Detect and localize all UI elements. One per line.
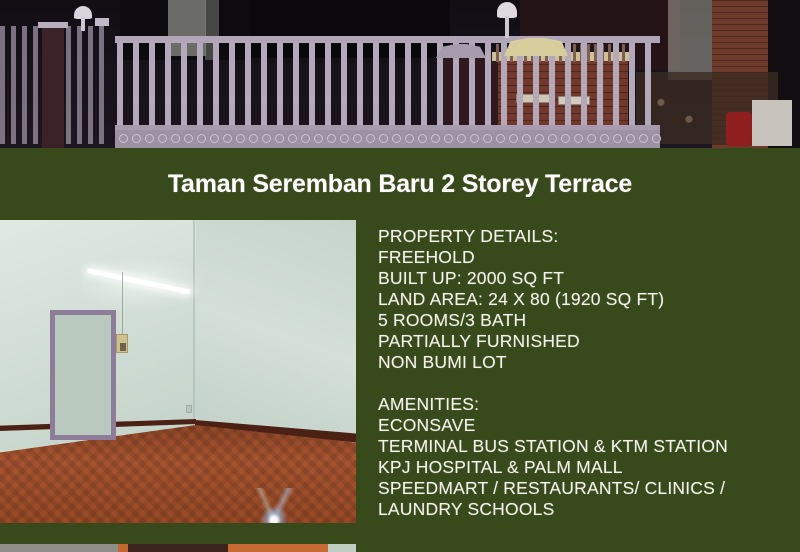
gate-bar — [245, 43, 251, 125]
gate-bar — [261, 43, 267, 125]
sliver-band-wood — [228, 544, 328, 552]
gate-bar — [645, 43, 651, 125]
listing-text-column: PROPERTY DETAILS: FREEHOLD BUILT UP: 200… — [378, 226, 790, 520]
gate-ring — [197, 134, 206, 143]
gate-bar — [213, 43, 219, 125]
fence-picket — [11, 26, 16, 144]
gate-ring — [574, 134, 583, 143]
gate-ring — [470, 134, 479, 143]
page-title: Taman Seremban Baru 2 Storey Terrace — [168, 170, 632, 199]
fence-picket — [99, 26, 104, 144]
gate-ring — [483, 134, 492, 143]
gate-ring — [301, 134, 310, 143]
gate-ring — [288, 134, 297, 143]
gate-ring — [535, 134, 544, 143]
amenity-line: ECONSAVE — [378, 415, 790, 436]
gate-ring — [548, 134, 557, 143]
gate-ring — [184, 134, 193, 143]
gate-post-cap — [38, 22, 68, 28]
gate-ring — [223, 134, 232, 143]
amenity-line: LAUNDRY SCHOOLS — [378, 499, 790, 520]
gate-ring — [652, 134, 661, 143]
gate-bar — [117, 43, 123, 125]
wall-outlet — [186, 405, 192, 413]
gate-ring — [366, 134, 375, 143]
light-glow — [82, 260, 207, 312]
gate-bar — [405, 43, 411, 125]
fence-picket — [33, 26, 38, 144]
detail-line: NON BUMI LOT — [378, 352, 790, 373]
sliver-band-pale — [328, 544, 356, 552]
lamp-stem — [81, 17, 85, 31]
gate-bar — [181, 43, 187, 125]
gate-post-cap-secondary — [95, 18, 109, 26]
gate-ring — [236, 134, 245, 143]
gate-bar — [581, 43, 587, 125]
gate-ring — [600, 134, 609, 143]
gate-ring — [561, 134, 570, 143]
gate-ring — [132, 134, 141, 143]
detail-line: PARTIALLY FURNISHED — [378, 331, 790, 352]
gate-ring — [613, 134, 622, 143]
fluorescent-tube-light — [88, 268, 193, 294]
gate-ring — [327, 134, 336, 143]
red-object — [726, 112, 752, 146]
open-doorway — [50, 310, 116, 440]
purple-door-frame — [50, 310, 116, 440]
gate-ring — [249, 134, 258, 143]
white-object — [752, 100, 792, 146]
gate-ring — [275, 134, 284, 143]
hanging-wire — [122, 272, 123, 338]
detail-line: 5 ROOMS/3 BATH — [378, 310, 790, 331]
gate-ring — [119, 134, 128, 143]
sliver-band-grey — [0, 544, 118, 552]
wall-corbel-right — [504, 38, 568, 56]
amenity-line: TERMINAL BUS STATION & KTM STATION — [378, 436, 790, 457]
fence-picket — [0, 26, 5, 144]
detail-line: BUILT UP: 2000 SQ FT — [378, 268, 790, 289]
gate-ring — [262, 134, 271, 143]
gate-ring — [158, 134, 167, 143]
gate-bar — [197, 43, 203, 125]
lavender-sliding-gate — [115, 36, 660, 148]
fence-picket — [22, 26, 27, 144]
gate-bar — [149, 43, 155, 125]
gate-ring — [639, 134, 648, 143]
property-listing-flyer: Taman Seremban Baru 2 Storey Terrace PRO… — [0, 0, 800, 552]
amenity-line: SPEEDMART / RESTAURANTS/ CLINICS / — [378, 478, 790, 499]
wall-switch-plate — [116, 334, 128, 353]
gate-ring — [340, 134, 349, 143]
gate-ring — [509, 134, 518, 143]
gate-ring — [392, 134, 401, 143]
gate-bar — [357, 43, 363, 125]
property-details-heading: PROPERTY DETAILS: — [378, 226, 790, 247]
gate-ring — [587, 134, 596, 143]
title-bar: Taman Seremban Baru 2 Storey Terrace — [0, 148, 800, 220]
gate-bar — [485, 43, 491, 125]
gate-ring — [626, 134, 635, 143]
gate-ring — [145, 134, 154, 143]
gate-ring — [496, 134, 505, 143]
gate-ring — [405, 134, 414, 143]
wall-corner-line — [193, 220, 195, 435]
interior-empty-room-photo — [0, 220, 356, 523]
gate-ring — [457, 134, 466, 143]
gate-ring — [418, 134, 427, 143]
gate-top-rail — [115, 36, 660, 43]
gate-ring — [522, 134, 531, 143]
gate-bar — [277, 43, 283, 125]
gate-bar — [421, 43, 427, 125]
switch-toggle-icon — [120, 343, 126, 351]
gate-bar — [341, 43, 347, 125]
gate-bar — [309, 43, 315, 125]
detail-line: LAND AREA: 24 X 80 (1920 SQ FT) — [378, 289, 790, 310]
sliver-band-orange — [118, 544, 128, 552]
gate-ring — [444, 134, 453, 143]
gate-vertical-bars — [115, 43, 660, 125]
gate-bar — [133, 43, 139, 125]
fence-picket — [77, 26, 82, 144]
gate-bar — [629, 43, 635, 125]
gate-ring — [379, 134, 388, 143]
sliver-band-dark — [128, 544, 228, 552]
gate-ring — [353, 134, 362, 143]
section-spacer — [378, 373, 790, 394]
lens-flare-highlight — [238, 488, 310, 523]
fence-picket — [88, 26, 93, 144]
gate-bar — [165, 43, 171, 125]
gate-ring — [314, 134, 323, 143]
gate-ring-band — [115, 130, 660, 148]
gate-bar — [293, 43, 299, 125]
lamp-post-left — [74, 0, 92, 28]
amenity-line: KPJ HOSPITAL & PALM MALL — [378, 457, 790, 478]
gate-post-dark — [42, 24, 64, 148]
third-photo-sliver — [0, 544, 356, 552]
gate-bar — [325, 43, 331, 125]
gate-bar — [373, 43, 379, 125]
gate-bar — [597, 43, 603, 125]
detail-line: FREEHOLD — [378, 247, 790, 268]
gate-bar — [389, 43, 395, 125]
amenities-heading: AMENITIES: — [378, 394, 790, 415]
gate-ring — [431, 134, 440, 143]
gate-ring — [171, 134, 180, 143]
gate-ring — [210, 134, 219, 143]
lamp-stem — [505, 16, 509, 38]
fence-picket — [66, 26, 71, 144]
lamp-post-right — [497, 2, 517, 38]
gate-bar — [229, 43, 235, 125]
gate-bar — [613, 43, 619, 125]
exterior-gates-night-photo — [0, 0, 800, 148]
